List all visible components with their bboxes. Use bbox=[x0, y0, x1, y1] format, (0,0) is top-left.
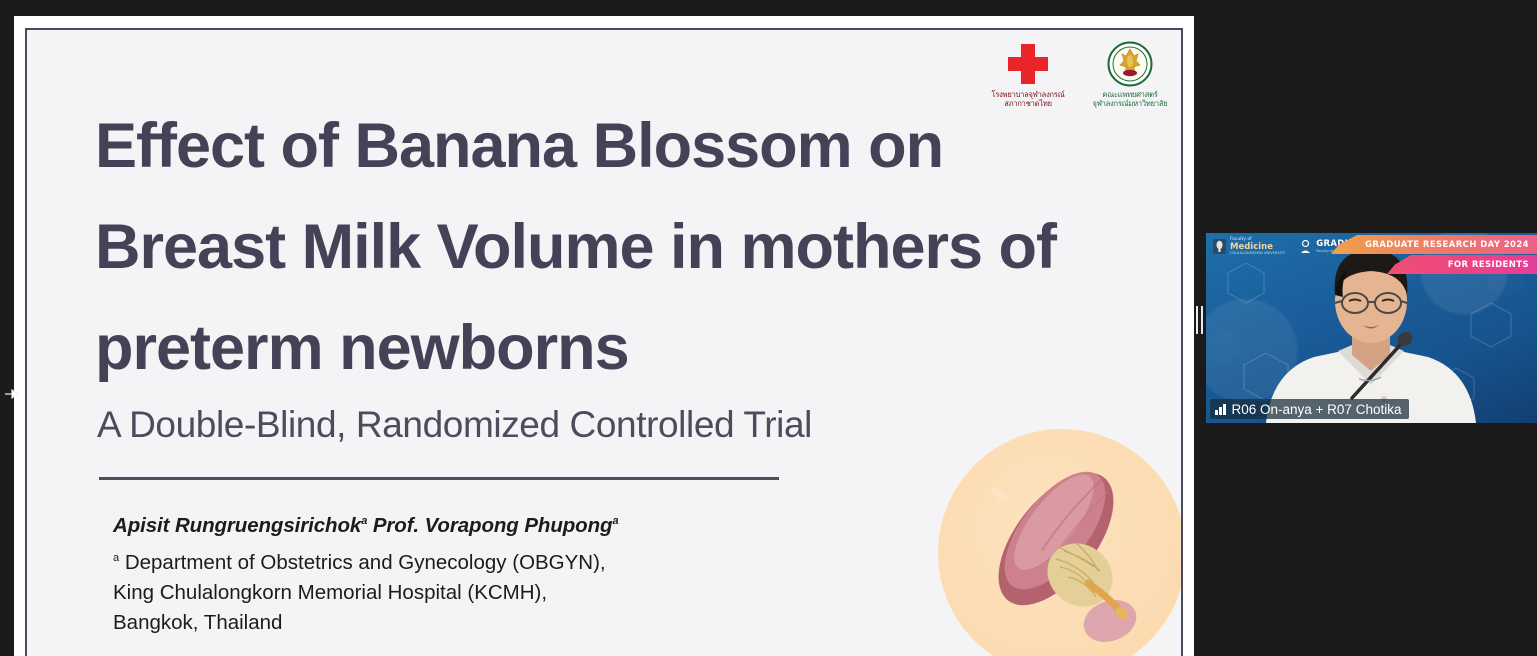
slide-divider bbox=[99, 477, 779, 480]
screen-share-pane: โรงพยาบาลจุฬาลงกรณ์ สภากาชาดไทย คณะแพทยศ… bbox=[14, 16, 1194, 656]
slide-authors: Apisit Rungruengsirichoka Prof. Vorapong… bbox=[113, 506, 873, 638]
medicine-logo-text: Faculty of Medicine CHULALONGKORN UNIVER… bbox=[1230, 238, 1285, 256]
red-cross-icon bbox=[983, 38, 1073, 90]
author-secondary-sup: a bbox=[612, 515, 618, 527]
slide-title: Effect of Banana Blossom on Breast Milk … bbox=[95, 96, 1095, 399]
presentation-slide: โรงพยาบาลจุฬาลงกรณ์ สภากาชาดไทย คณะแพทยศ… bbox=[25, 28, 1183, 656]
faculty-caption: คณะแพทยศาสตร์ จุฬาลงกรณ์มหาวิทยาลัย bbox=[1085, 90, 1175, 108]
banana-blossom-illustration bbox=[938, 429, 1183, 656]
event-banner: GRADUATE RESEARCH DAY 2024 FOR RESIDENTS bbox=[1331, 233, 1537, 276]
chulalongkorn-faculty-of-medicine-logo: คณะแพทยศาสตร์ จุฬาลงกรณ์มหาวิทยาลัย bbox=[1085, 38, 1175, 108]
author-secondary: Prof. Vorapong Phupong bbox=[373, 514, 613, 537]
expand-left-arrow-icon[interactable] bbox=[4, 386, 22, 402]
slide-subtitle: A Double-Blind, Randomized Controlled Tr… bbox=[97, 401, 1047, 449]
pane-splitter-handle[interactable] bbox=[1196, 306, 1203, 334]
audio-level-icon bbox=[1215, 404, 1226, 415]
medicine-crest-icon bbox=[1213, 239, 1226, 254]
graduate-cap-icon bbox=[1299, 239, 1312, 254]
affiliation-line-3: Bangkok, Thailand bbox=[113, 608, 873, 638]
author-names: Apisit Rungruengsirichoka Prof. Vorapong… bbox=[113, 506, 873, 541]
medicine-logo-top: Faculty of bbox=[1230, 238, 1285, 243]
app-root: โรงพยาบาลจุฬาลงกรณ์ สภากาชาดไทย คณะแพทยศ… bbox=[0, 0, 1537, 656]
event-banner-title: GRADUATE RESEARCH DAY 2024 bbox=[1331, 235, 1537, 254]
participant-name-text: R06 On-anya + R07 Chotika bbox=[1232, 402, 1402, 417]
affiliation-line-2: King Chulalongkorn Memorial Hospital (KC… bbox=[113, 578, 873, 608]
author-primary: Apisit Rungruengsirichok bbox=[113, 514, 361, 537]
affiliation-sup: a bbox=[113, 552, 119, 564]
affiliation-line-1: a Department of Obstetrics and Gynecolog… bbox=[113, 543, 873, 578]
event-banner-subtitle: FOR RESIDENTS bbox=[1387, 255, 1537, 274]
faculty-seal-icon bbox=[1085, 38, 1175, 90]
participant-name-label: R06 On-anya + R07 Chotika bbox=[1210, 399, 1409, 419]
medicine-logo-sub: CHULALONGKORN UNIVERSITY bbox=[1230, 252, 1285, 256]
medicine-logo-main: Medicine bbox=[1230, 243, 1285, 252]
faculty-medicine-logo: Faculty of Medicine CHULALONGKORN UNIVER… bbox=[1213, 238, 1285, 256]
affiliation-department: Department of Obstetrics and Gynecology … bbox=[125, 551, 606, 574]
author-primary-sup: a bbox=[361, 515, 367, 527]
participant-video-tile[interactable]: Faculty of Medicine CHULALONGKORN UNIVER… bbox=[1206, 233, 1537, 423]
